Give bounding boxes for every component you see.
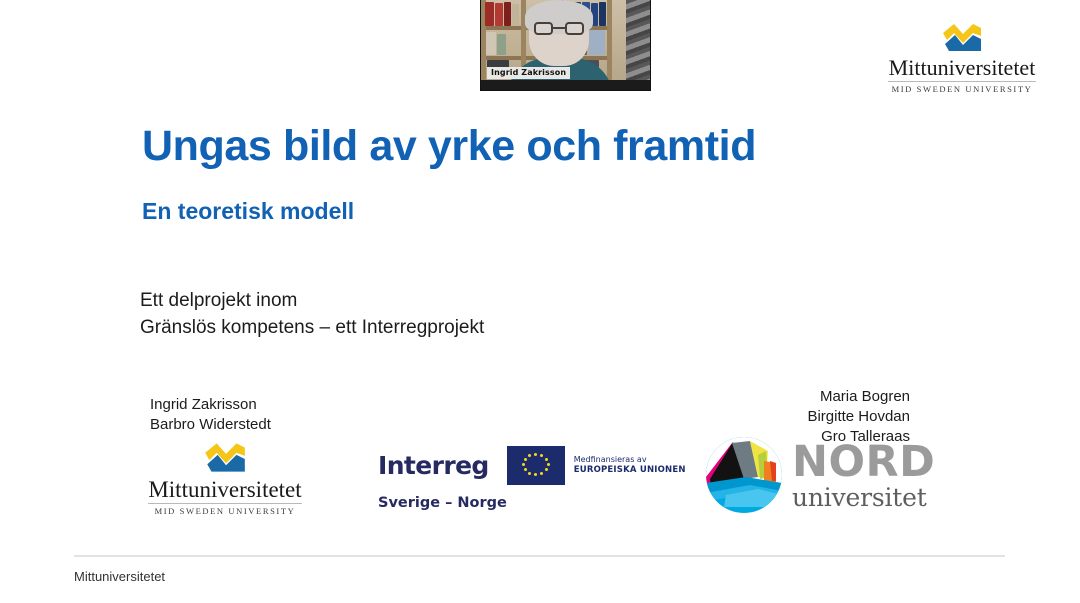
project-description-line-2: Gränslös kompetens – ett Interregprojekt: [140, 315, 484, 342]
project-description: Ett delprojekt inom Gränslös kompetens –…: [140, 288, 484, 342]
page-subtitle: En teoretisk modell: [142, 198, 354, 225]
footer-label: Mittuniversitetet: [74, 569, 165, 584]
eu-caption-line-1: Medfinansieras av: [574, 455, 686, 465]
video-overlay[interactable]: Ingrid Zakrisson: [480, 0, 651, 91]
video-bottom-bar: [481, 80, 650, 90]
author-name: Ingrid Zakrisson: [150, 395, 271, 415]
mittuniversitetet-logo-header: Mittuniversitetet MID SWEDEN UNIVERSITY: [886, 22, 1038, 94]
eu-funding-caption: Medfinansieras av EUROPEISKA UNIONEN: [574, 455, 686, 475]
author-name: Birgitte Hovdan: [807, 407, 910, 427]
mittuniversitetet-logo-footer: Mittuniversitetet MID SWEDEN UNIVERSITY: [146, 441, 304, 516]
person-glasses: [534, 22, 584, 35]
curtain: [626, 0, 650, 90]
mittuniversitetet-tagline: MID SWEDEN UNIVERSITY: [886, 85, 1038, 94]
authors-left: Ingrid Zakrisson Barbro Widerstedt: [150, 395, 271, 435]
interreg-wordmark: Interreg: [378, 453, 489, 478]
miun-mark-svg: [939, 22, 985, 54]
video-participant-name: Ingrid Zakrisson: [487, 67, 570, 79]
interreg-programme: Sverige – Norge: [378, 495, 686, 511]
mittuniversitetet-mark: [201, 441, 249, 475]
miun-mark-svg: [201, 441, 249, 475]
nord-wordmark: NORD: [792, 441, 935, 484]
video-scene: Ingrid Zakrisson: [481, 0, 650, 90]
author-name: Barbro Widerstedt: [150, 415, 271, 435]
mittuniversitetet-mark: [939, 22, 985, 54]
page-title: Ungas bild av yrke och framtid: [142, 122, 756, 171]
nord-text-block: NORD universitet: [792, 441, 935, 510]
nord-mark-icon: [706, 437, 782, 513]
nord-mark-svg: [706, 437, 782, 513]
nord-universitet-logo: NORD universitet: [706, 437, 935, 513]
eu-caption-line-2: EUROPEISKA UNIONEN: [574, 465, 686, 475]
eu-flag-icon: [507, 446, 565, 485]
mittuniversitetet-wordmark: Mittuniversitetet: [146, 478, 304, 501]
footer-divider: [74, 555, 1005, 557]
nord-subtitle: universitet: [792, 485, 935, 510]
mittuniversitetet-tagline: MID SWEDEN UNIVERSITY: [146, 507, 304, 516]
presentation-slide: Ingrid Zakrisson Mittuniversitetet MID S…: [0, 0, 1080, 603]
interreg-logo: Interreg Medfinansieras av EUROPEISKA UN…: [378, 446, 686, 511]
mittuniversitetet-wordmark: Mittuniversitetet: [886, 57, 1038, 79]
project-description-line-1: Ett delprojekt inom: [140, 288, 484, 315]
author-name: Maria Bogren: [807, 387, 910, 407]
